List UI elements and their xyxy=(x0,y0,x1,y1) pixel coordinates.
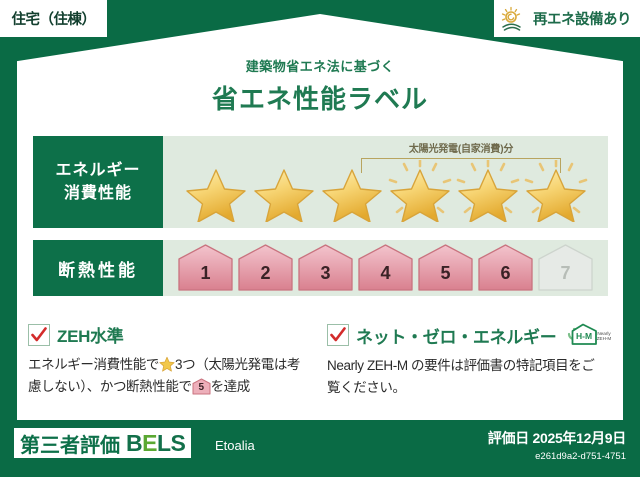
bels-certification-logo: 第三者評価 BELS xyxy=(14,428,191,458)
bels-letter-e: E xyxy=(142,430,157,456)
evaluation-id: e261d9a2-d751-4751 xyxy=(488,451,626,462)
insulation-level-house: 6 xyxy=(477,243,534,293)
insulation-level-number: 2 xyxy=(237,263,294,284)
evaluation-meta: 評価日 2025年12月9日 e261d9a2-d751-4751 xyxy=(488,428,626,462)
renewable-badge-label: 再エネ設備あり xyxy=(533,8,631,29)
zeh-desc-star-count: 3つ xyxy=(175,357,195,372)
net-zero-energy-description: Nearly ZEH-M の要件は評価書の特記項目をご覧ください。 xyxy=(327,355,603,399)
insulation-level-number: 1 xyxy=(177,263,234,284)
energy-performance-row: エネルギー 消費性能 太陽光発電(自家消費)分 xyxy=(33,136,608,228)
insulation-level-number: 7 xyxy=(537,263,594,284)
insulation-level-house-inactive: 7 xyxy=(537,243,594,293)
star-icon xyxy=(251,160,317,222)
building-type-label: 住宅（住棟） xyxy=(12,8,96,29)
zeh-standard-description: エネルギー消費性能で3つ（太陽光発電は考慮しない）、かつ断熱性能で5を達成 xyxy=(28,354,304,398)
net-zero-energy-heading: ネット・ゼロ・エネルギー H-M Nearly ZEH-M xyxy=(327,322,603,348)
star-icon xyxy=(183,160,249,222)
insulation-level-number: 4 xyxy=(357,263,414,284)
bels-japanese-label: 第三者評価 xyxy=(20,429,120,458)
check-icon xyxy=(329,326,347,344)
insulation-level-house: 2 xyxy=(237,243,294,293)
star-solar-icon xyxy=(455,160,521,222)
energy-performance-label: エネルギー 消費性能 xyxy=(33,136,163,228)
zeh-m-logo-inner-text: H-M xyxy=(576,331,592,341)
star-solar-icon xyxy=(387,160,453,222)
insulation-performance-label: 断熱性能 xyxy=(33,240,163,296)
solar-bracket-caption: 太陽光発電(自家消費)分 xyxy=(331,140,591,155)
energy-performance-panel: 太陽光発電(自家消費)分 xyxy=(163,136,608,228)
check-icon xyxy=(30,326,48,344)
zeh-standard-heading: ZEH水準 xyxy=(28,322,304,347)
label-main-title: 省エネ性能ラベル xyxy=(0,79,640,116)
energy-performance-label: 住宅（住棟） 再エネ設備あり 建築物省エネ法に基づく xyxy=(0,0,640,477)
zeh-standard-title: ZEH水準 xyxy=(57,322,124,347)
insulation-level-number: 6 xyxy=(477,263,534,284)
insulation-level-house: 3 xyxy=(297,243,354,293)
zeh-standard-checkbox[interactable] xyxy=(28,324,50,346)
zeh-m-logo-caption2: ZEH-M xyxy=(597,336,611,341)
bels-letter-b: B xyxy=(126,430,142,456)
insulation-performance-row: 断熱性能 1 xyxy=(33,240,608,296)
zeh-desc-part1: エネルギー消費性能で xyxy=(28,357,159,372)
insulation-level-house: 5 xyxy=(417,243,474,293)
insulation-level-number: 5 xyxy=(417,263,474,284)
inline-house-level-number: 5 xyxy=(192,380,211,396)
insulation-level-house: 4 xyxy=(357,243,414,293)
insulation-level-house: 1 xyxy=(177,243,234,293)
star-solar-icon xyxy=(523,160,589,222)
energy-label-line2: 消費性能 xyxy=(64,182,132,205)
building-type-tag: 住宅（住棟） xyxy=(0,0,107,37)
zeh-standard-section: ZEH水準 エネルギー消費性能で3つ（太陽光発電は考慮しない）、かつ断熱性能で5… xyxy=(28,322,304,398)
insulation-label-text: 断熱性能 xyxy=(58,256,138,281)
insulation-performance-panel: 1 2 3 4 xyxy=(163,240,608,296)
insulation-level-number: 3 xyxy=(297,263,354,284)
zeh-m-logo-icon: H-M Nearly ZEH-M xyxy=(565,322,611,348)
brand-name: Etoalia xyxy=(215,438,255,453)
insulation-level-scale: 1 2 3 4 xyxy=(163,243,608,293)
net-zero-energy-checkbox[interactable] xyxy=(327,324,349,346)
bels-letters-ls: LS xyxy=(157,430,185,456)
zeh-desc-part3: を達成 xyxy=(211,379,250,394)
energy-star-rating xyxy=(163,160,608,222)
star-icon xyxy=(319,160,385,222)
renewable-energy-badge: 再エネ設備あり xyxy=(494,0,640,37)
inline-star-icon xyxy=(159,356,175,372)
label-title-block: 建築物省エネ法に基づく 省エネ性能ラベル xyxy=(0,56,640,116)
energy-label-line1: エネルギー xyxy=(55,159,140,182)
sun-icon xyxy=(500,6,528,32)
bels-wordmark: BELS xyxy=(126,430,185,457)
inline-house-level-icon: 5 xyxy=(192,378,211,395)
net-zero-energy-title: ネット・ゼロ・エネルギー xyxy=(356,323,556,348)
evaluation-date: 評価日 2025年12月9日 xyxy=(488,428,626,448)
net-zero-energy-section: ネット・ゼロ・エネルギー H-M Nearly ZEH-M Nearly ZEH… xyxy=(327,322,603,399)
label-subtitle: 建築物省エネ法に基づく xyxy=(0,56,640,75)
